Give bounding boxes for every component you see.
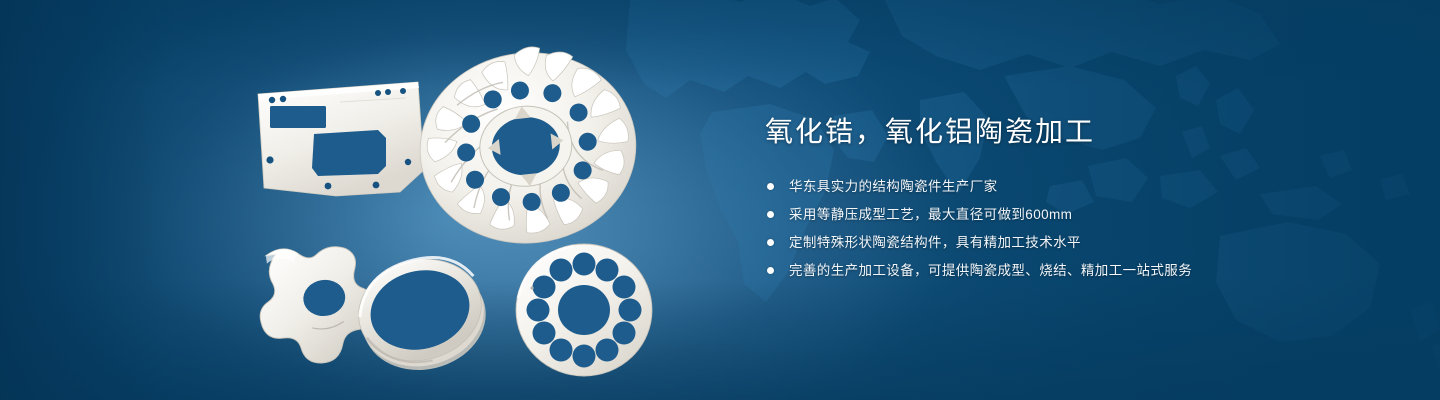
banner-copy: 氧化锆，氧化铝陶瓷加工 华东具实力的结构陶瓷件生产厂家 采用等静压成型工艺，最大…: [765, 112, 1385, 288]
ceramic-perforated-disc: [516, 244, 652, 376]
ceramic-products-photo: [228, 38, 678, 382]
ceramic-base-plate: [258, 82, 424, 196]
list-item: 采用等静压成型工艺，最大直径可做到600mm: [767, 204, 1385, 225]
list-item: 华东具实力的结构陶瓷件生产厂家: [767, 176, 1385, 197]
page-title: 氧化锆，氧化铝陶瓷加工: [765, 112, 1385, 152]
ceramic-impeller-disc: [410, 38, 645, 254]
feature-list: 华东具实力的结构陶瓷件生产厂家 采用等静压成型工艺，最大直径可做到600mm 定…: [767, 176, 1385, 281]
product-banner: 氧化锆，氧化铝陶瓷加工 华东具实力的结构陶瓷件生产厂家 采用等静压成型工艺，最大…: [0, 0, 1440, 400]
list-item: 定制特殊形状陶瓷结构件，具有精加工技术水平: [767, 232, 1385, 253]
ceramic-ring: [348, 246, 497, 382]
list-item: 完善的生产加工设备，可提供陶瓷成型、烧结、精加工一站式服务: [767, 260, 1385, 281]
